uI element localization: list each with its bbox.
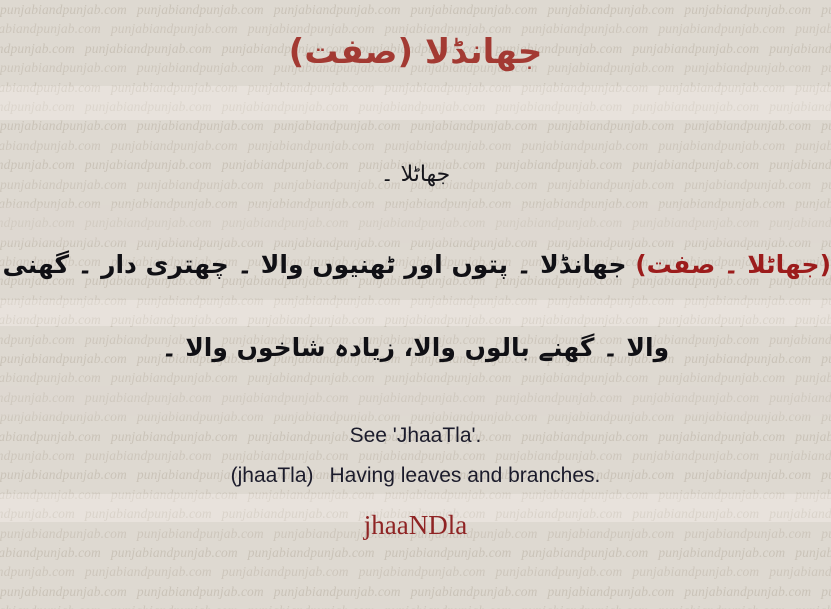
definition-line-2: والا ۔ گھنے بالوں والا، زیادہ شاخوں والا… [0,327,831,369]
definition-tag: (جھاٹلا ۔ صفت) [635,250,831,279]
entry-content: جھانڈلا (صفت) جھاٹلا ۔ (جھاٹلا ۔ صفت) جھ… [0,0,831,609]
headword-reference: جھاٹلا ۔ [0,158,831,192]
english-gloss: Having leaves and branches. [330,464,601,487]
english-gloss-line: (jhaaTla)Having leaves and branches. [0,461,831,491]
definition-line-1: (جھاٹلا ۔ صفت) جھانڈلا ۔ پتوں اور ٹھنیوں… [0,244,831,286]
dictionary-entry-page: punjabiandpunjab.compunjabiandpunjab.com… [0,0,831,609]
entry-title: جھانڈلا (صفت) [0,26,831,78]
transliteration: (jhaaTla) [231,464,314,487]
romanized-headword: jhaaNDla [0,506,831,544]
definition-body: جھانڈلا ۔ پتوں اور ٹھنیوں والا ۔ چھتری د… [0,250,635,279]
see-also-reference: See 'JhaaTla'. [0,421,831,451]
